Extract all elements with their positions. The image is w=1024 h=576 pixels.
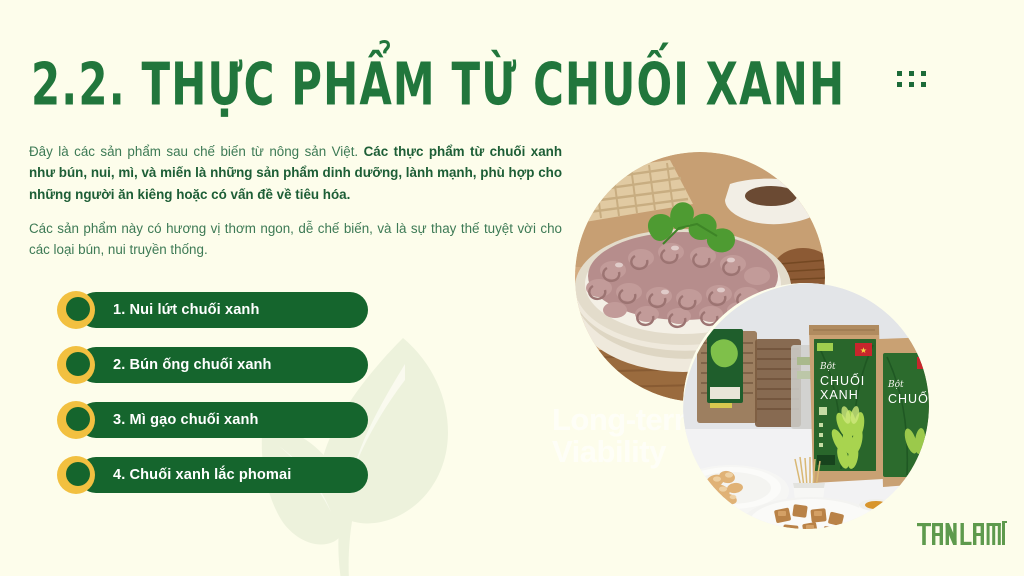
dot-icon: [897, 71, 902, 76]
dots-decoration: [897, 71, 926, 87]
photo-green-banana-flour-packages: ★ Bột CHUỐI XANH: [683, 283, 929, 529]
list-item-label: 4. Chuối xanh lắc phomai: [113, 457, 291, 493]
page-title: 2.2. THỰC PHẨM TỪ CHUỐI XANH: [31, 51, 845, 119]
svg-text:Bột: Bột: [887, 379, 904, 390]
bullet-circle-icon: [57, 291, 95, 329]
intro-paragraph: Đây là các sản phẩm sau chế biến từ nông…: [29, 141, 562, 205]
bullet-circle-icon: [57, 401, 95, 439]
dot-icon: [897, 82, 902, 87]
dot-icon: [921, 71, 926, 76]
background-watermark-text: Long-term Viability: [552, 404, 701, 467]
dot-icon: [909, 82, 914, 87]
watermark-line-1: Long-term: [552, 404, 701, 436]
svg-text:CHUỐI: CHUỐI: [820, 373, 865, 388]
slide-canvas: Long-term Viability 2.2. THỰC PHẨM TỪ CH…: [0, 0, 1024, 576]
svg-text:★: ★: [860, 346, 867, 355]
list-item-label: 2. Bún ống chuối xanh: [113, 347, 272, 383]
svg-text:XANH: XANH: [820, 388, 859, 402]
bullet-circle-icon: [57, 346, 95, 384]
bullet-circle-icon: [57, 456, 95, 494]
svg-text:CHUỐI: CHUỐI: [888, 391, 929, 406]
brand-logo: [917, 521, 1007, 547]
list-item-label: 3. Mì gạo chuối xanh: [113, 402, 259, 438]
intro-paragraph-normal: Đây là các sản phẩm sau chế biến từ nông…: [29, 144, 364, 159]
watermark-line-2: Viability: [552, 436, 701, 468]
dot-icon: [921, 82, 926, 87]
dot-icon: [909, 71, 914, 76]
list-item-label: 1. Nui lứt chuối xanh: [113, 292, 259, 328]
svg-text:Bột: Bột: [819, 361, 836, 372]
secondary-paragraph: Các sản phẩm này có hương vị thơm ngon, …: [29, 218, 562, 261]
